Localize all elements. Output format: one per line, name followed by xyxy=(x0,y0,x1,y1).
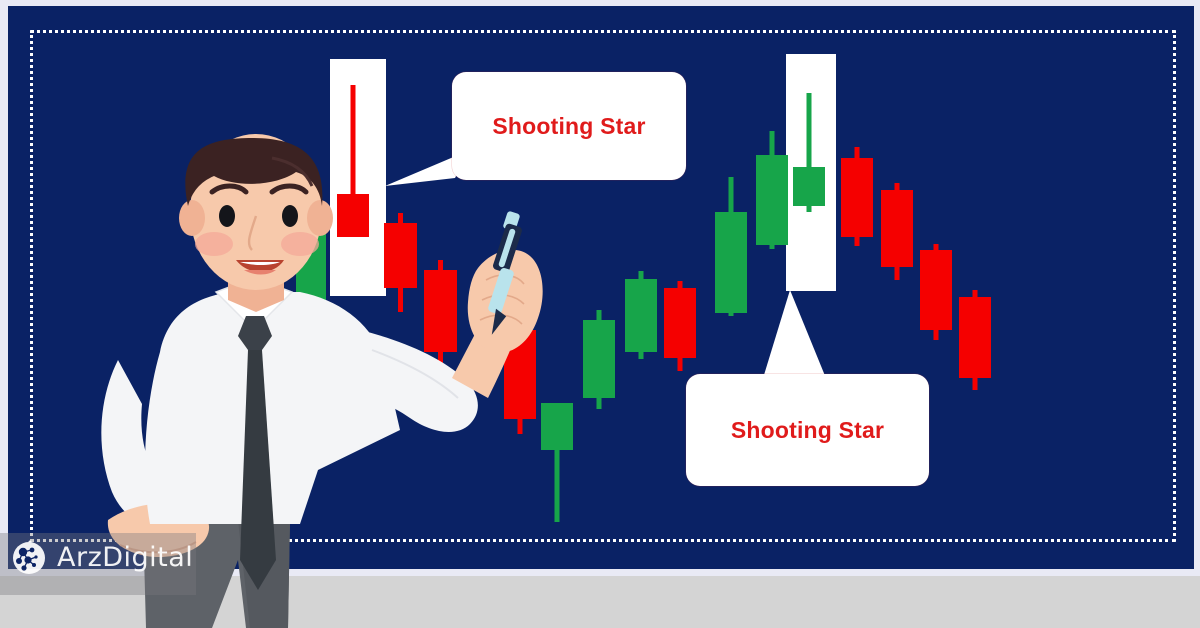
bubble-bottom[interactable]: Shooting Star xyxy=(686,374,929,486)
watermark-logo[interactable]: ArzDigital xyxy=(10,538,193,576)
molecule-circle-icon xyxy=(10,538,48,576)
watermark-brand: ArzDigital xyxy=(57,542,193,573)
bubble-top[interactable]: Shooting Star xyxy=(452,72,686,180)
illustration-canvas: Shooting Star Shooting Star ArzDigital xyxy=(0,0,1200,628)
bubble-top-label: Shooting Star xyxy=(492,113,645,140)
bubble-bottom-label: Shooting Star xyxy=(731,417,884,444)
